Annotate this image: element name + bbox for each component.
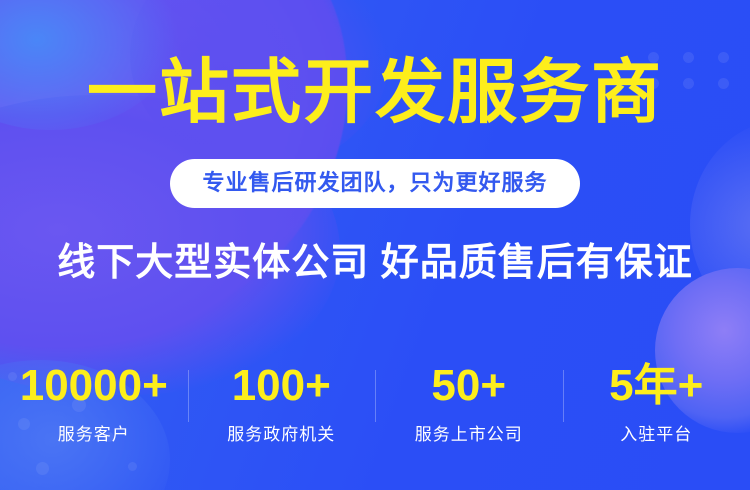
status-badge: 专业售后研发团队，只为更好服务 [170, 159, 579, 208]
stat-label: 入驻平台 [563, 424, 750, 446]
stat-label: 服务上市公司 [375, 424, 563, 446]
badge-container: 专业售后研发团队，只为更好服务 [0, 159, 750, 208]
stat-item: 10000+ 服务客户 [0, 358, 188, 446]
subtitle: 线下大型实体公司 好品质售后有保证 [0, 238, 750, 288]
stat-item: 100+ 服务政府机关 [188, 358, 376, 446]
page-title: 一站式开发服务商 [0, 52, 750, 132]
stat-value: 50+ [375, 358, 563, 414]
stat-item: 5年+ 入驻平台 [563, 358, 750, 446]
stat-item: 50+ 服务上市公司 [375, 358, 563, 446]
stats-row: 10000+ 服务客户 100+ 服务政府机关 50+ 服务上市公司 5年+ 入… [0, 358, 750, 446]
stat-label: 服务政府机关 [188, 424, 376, 446]
promo-banner: 一站式开发服务商 专业售后研发团队，只为更好服务 线下大型实体公司 好品质售后有… [0, 0, 750, 490]
stat-label: 服务客户 [0, 424, 188, 446]
stat-value: 5年+ [563, 358, 750, 414]
stat-value: 100+ [188, 358, 376, 414]
banner-content: 一站式开发服务商 专业售后研发团队，只为更好服务 线下大型实体公司 好品质售后有… [0, 0, 750, 490]
stat-value: 10000+ [0, 358, 188, 414]
